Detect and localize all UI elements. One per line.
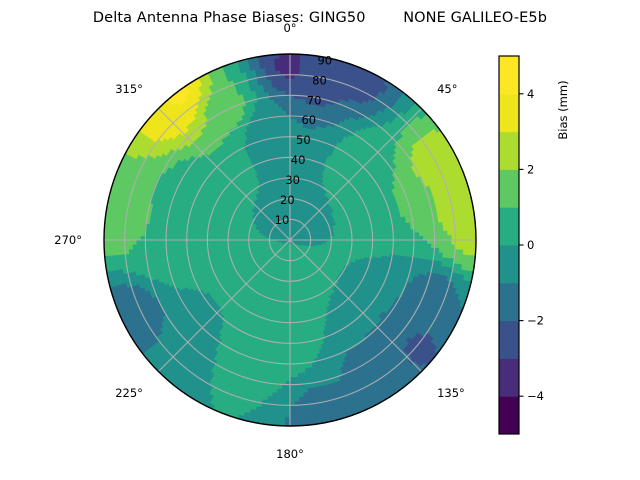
colorbar-axis-label: Bias (mm): [556, 45, 570, 175]
colorbar: 420−2−4: [0, 0, 640, 480]
figure-canvas: Delta Antenna Phase Biases: GING50 NONE …: [0, 0, 640, 480]
colorbar-body: [499, 56, 519, 435]
colorbar-tick--2: −2: [527, 314, 544, 328]
colorbar-ticks: 420−2−4: [519, 87, 544, 403]
colorbar-tick--4: −4: [527, 389, 544, 403]
colorbar-tick-4: 4: [527, 87, 534, 101]
colorbar-tick-2: 2: [527, 162, 534, 176]
colorbar-tick-0: 0: [527, 238, 534, 252]
